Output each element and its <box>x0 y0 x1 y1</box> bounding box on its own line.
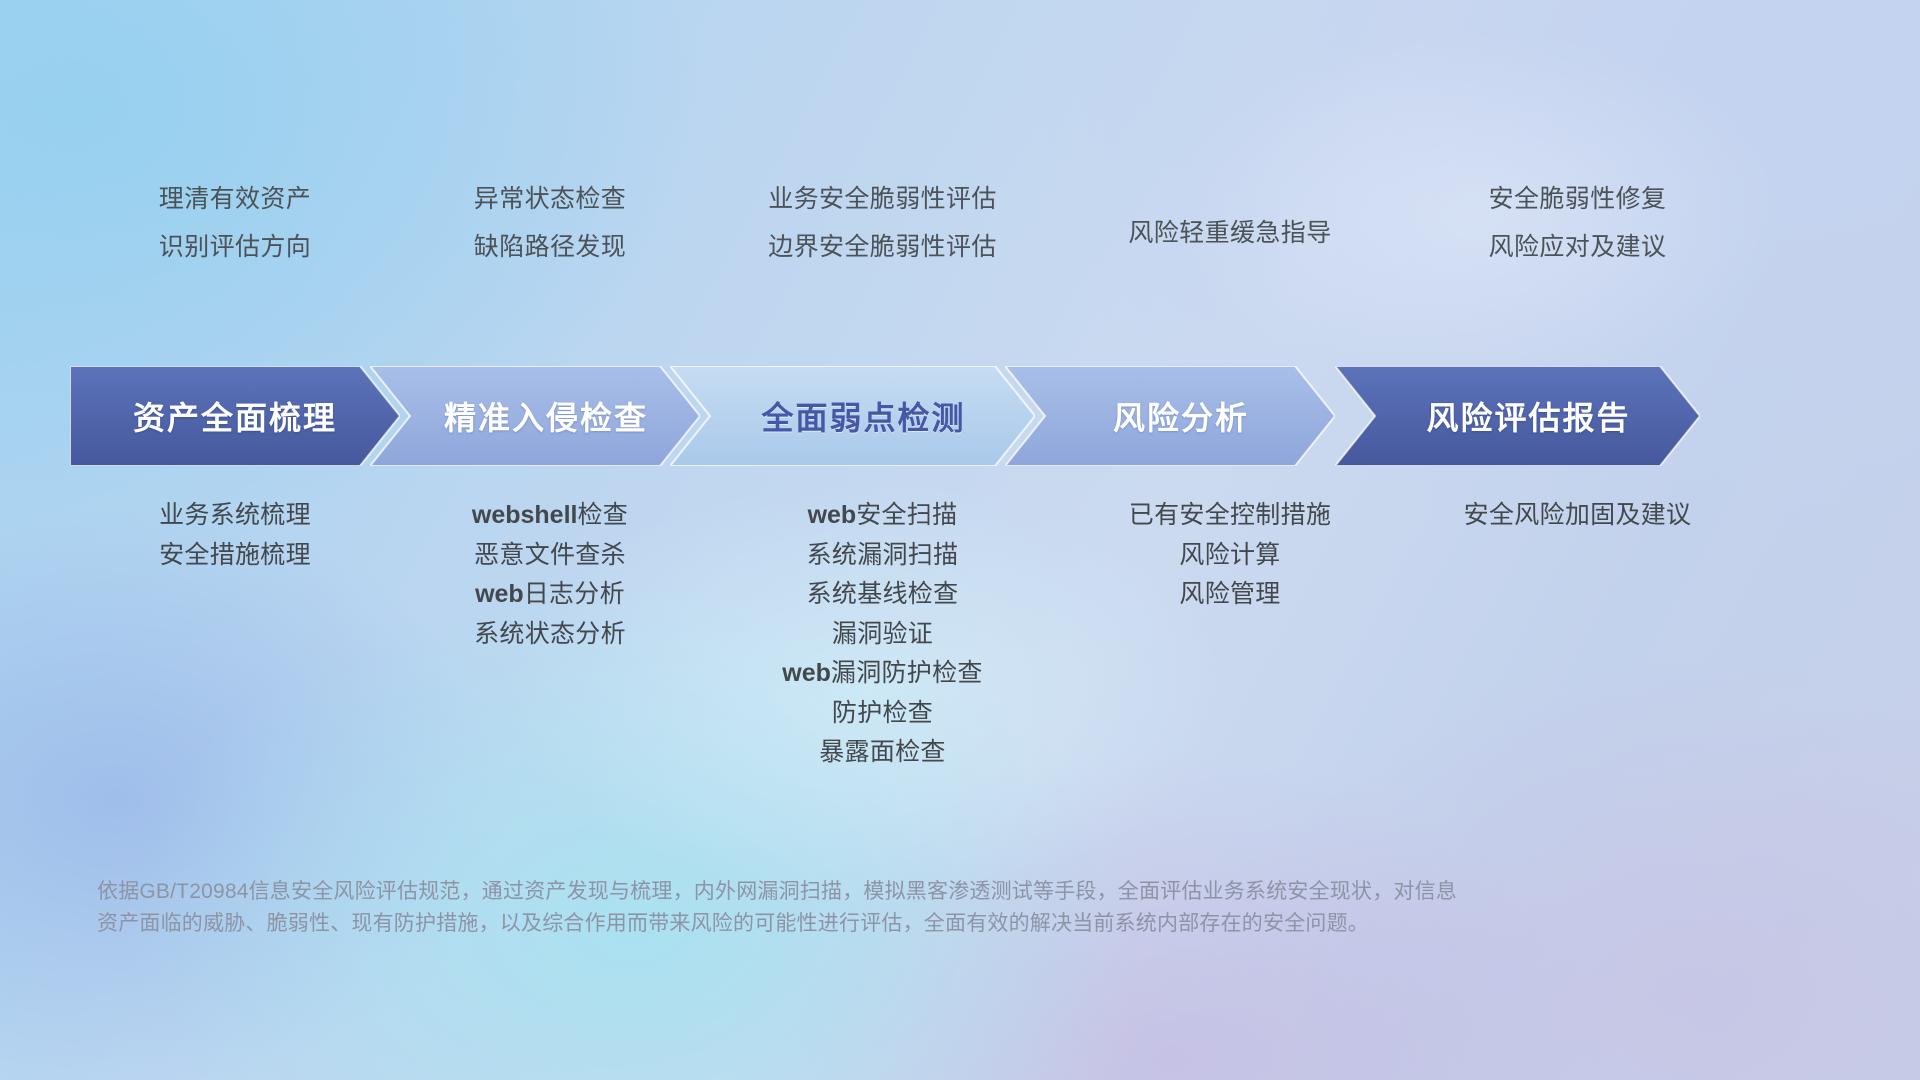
top-notes-intrusion-check: 异常状态检查缺陷路径发现 <box>400 175 700 290</box>
process-step-risk-report[interactable]: 风险评估报告 <box>1335 366 1700 466</box>
stage-details-weakness-detection: web安全扫描系统漏洞扫描系统基线检查漏洞验证web漏洞防护检查防护检查暴露面检… <box>700 496 1065 773</box>
stage-details-risk-report: 安全风险加固及建议 <box>1395 496 1760 773</box>
top-note-line: 边界安全脆弱性评估 <box>768 223 997 271</box>
top-notes-weakness-detection: 业务安全脆弱性评估边界安全脆弱性评估 <box>700 175 1065 290</box>
footer-description: 依据GB/T20984信息安全风险评估规范，通过资产发现与梳理，内外网漏洞扫描，… <box>97 876 1657 940</box>
stage-details-row: 业务系统梳理安全措施梳理webshell检查恶意文件查杀web日志分析系统状态分… <box>70 496 1860 773</box>
footer-line-1: 依据GB/T20984信息安全风险评估规范，通过资产发现与梳理，内外网漏洞扫描，… <box>97 876 1657 908</box>
stage-details-intrusion-check: webshell检查恶意文件查杀web日志分析系统状态分析 <box>400 496 700 773</box>
detail-cjk-part: 日志分析 <box>524 580 625 608</box>
stage-detail-item: web漏洞防护检查 <box>782 654 982 694</box>
slide-canvas: 理清有效资产识别评估方向异常状态检查缺陷路径发现业务安全脆弱性评估边界安全脆弱性… <box>0 0 1920 1080</box>
process-step-label: 精准入侵检查 <box>444 393 648 439</box>
stage-detail-item: 防护检查 <box>832 694 933 734</box>
stage-detail-item: 已有安全控制措施 <box>1129 496 1331 536</box>
process-step-label: 全面弱点检测 <box>761 393 965 439</box>
detail-cjk-part: 风险计算 <box>1179 541 1280 569</box>
stage-detail-item: 风险计算 <box>1179 536 1280 576</box>
top-notes-row: 理清有效资产识别评估方向异常状态检查缺陷路径发现业务安全脆弱性评估边界安全脆弱性… <box>70 175 1860 290</box>
footer-line-2: 资产面临的威胁、脆弱性、现有防护措施，以及综合作用而带来风险的可能性进行评估，全… <box>97 908 1657 940</box>
stage-detail-item: 漏洞验证 <box>832 615 933 655</box>
process-chevron-band: 资产全面梳理精准入侵检查全面弱点检测风险分析风险评估报告 <box>70 366 1860 466</box>
detail-cjk-part: 防护检查 <box>832 699 933 727</box>
detail-cjk-part: 检查 <box>577 501 628 529</box>
stage-detail-item: web安全扫描 <box>808 496 958 536</box>
stage-detail-item: 恶意文件查杀 <box>474 536 626 576</box>
detail-cjk-part: 业务系统梳理 <box>159 501 311 529</box>
process-step-intrusion-check[interactable]: 精准入侵检查 <box>370 366 700 466</box>
stage-detail-item: 业务系统梳理 <box>159 496 311 536</box>
top-note-line: 安全脆弱性修复 <box>1489 175 1667 223</box>
detail-cjk-part: 漏洞防护检查 <box>831 659 983 687</box>
process-step-label: 资产全面梳理 <box>133 393 337 439</box>
top-note-line: 风险轻重缓急指导 <box>1128 209 1331 257</box>
top-note-line: 业务安全脆弱性评估 <box>768 175 997 223</box>
detail-cjk-part: 风险管理 <box>1179 580 1280 608</box>
detail-cjk-part: 已有安全控制措施 <box>1129 501 1331 529</box>
top-notes-risk-analysis: 风险轻重缓急指导 <box>1065 175 1395 290</box>
top-note-line: 异常状态检查 <box>474 175 626 223</box>
process-step-label: 风险评估报告 <box>1426 393 1630 439</box>
top-note-line: 风险应对及建议 <box>1489 223 1667 271</box>
detail-cjk-part: 安全风险加固及建议 <box>1464 501 1692 529</box>
process-step-weakness-detection[interactable]: 全面弱点检测 <box>670 366 1035 466</box>
process-step-asset-inventory[interactable]: 资产全面梳理 <box>70 366 400 466</box>
detail-cjk-part: 安全措施梳理 <box>159 541 311 569</box>
top-note-line: 缺陷路径发现 <box>474 223 626 271</box>
detail-cjk-part: 安全扫描 <box>856 501 957 529</box>
detail-latin-part: web <box>808 501 857 529</box>
process-step-label: 风险分析 <box>1113 393 1249 439</box>
stage-detail-item: 暴露面检查 <box>819 733 946 773</box>
stage-details-asset-inventory: 业务系统梳理安全措施梳理 <box>70 496 400 773</box>
detail-cjk-part: 系统基线检查 <box>807 580 959 608</box>
detail-cjk-part: 暴露面检查 <box>819 738 946 766</box>
stage-detail-item: web日志分析 <box>475 575 625 615</box>
detail-cjk-part: 恶意文件查杀 <box>474 541 626 569</box>
stage-details-risk-analysis: 已有安全控制措施风险计算风险管理 <box>1065 496 1395 773</box>
detail-latin-part: webshell <box>472 501 578 529</box>
top-note-line: 识别评估方向 <box>159 223 311 271</box>
detail-cjk-part: 系统漏洞扫描 <box>807 541 959 569</box>
detail-cjk-part: 系统状态分析 <box>474 620 626 648</box>
detail-latin-part: web <box>782 659 831 687</box>
stage-detail-item: 安全风险加固及建议 <box>1464 496 1692 536</box>
stage-detail-item: 系统状态分析 <box>474 615 626 655</box>
detail-cjk-part: 漏洞验证 <box>832 620 933 648</box>
top-notes-risk-report: 安全脆弱性修复风险应对及建议 <box>1395 175 1760 290</box>
top-note-line: 理清有效资产 <box>159 175 311 223</box>
top-notes-asset-inventory: 理清有效资产识别评估方向 <box>70 175 400 290</box>
stage-detail-item: 系统基线检查 <box>807 575 959 615</box>
process-step-risk-analysis[interactable]: 风险分析 <box>1005 366 1335 466</box>
detail-latin-part: web <box>475 580 524 608</box>
stage-detail-item: 风险管理 <box>1179 575 1280 615</box>
stage-detail-item: 安全措施梳理 <box>159 536 311 576</box>
stage-detail-item: webshell检查 <box>472 496 628 536</box>
stage-detail-item: 系统漏洞扫描 <box>807 536 959 576</box>
